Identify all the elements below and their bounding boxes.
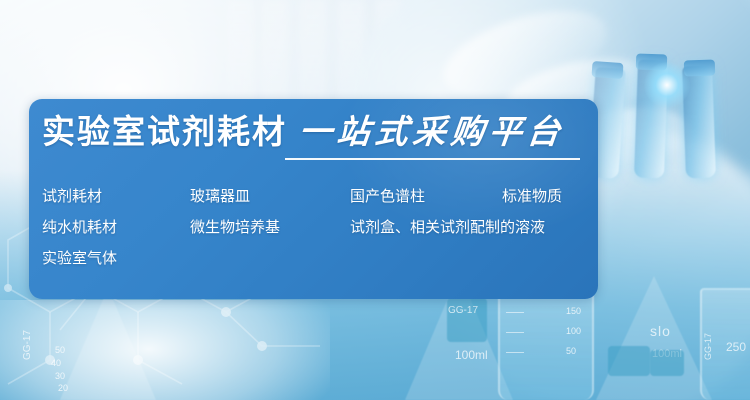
category-row: 实验室气体 — [42, 243, 587, 274]
flask-brand2-right: GG-17 — [703, 333, 713, 360]
category-item-laboratory-gas[interactable]: 实验室气体 — [42, 243, 117, 274]
light-glow — [644, 62, 690, 108]
category-row: 纯水机耗材 微生物培养基 试剂盒、相关试剂配制的溶液 — [42, 212, 587, 243]
laboratory-reagent-banner: 250 APPROX 200 150 100 50 GG-17 100ml GG… — [0, 0, 750, 400]
category-item-water-purifier-consumables[interactable]: 纯水机耗材 — [42, 212, 117, 243]
category-item-kits-and-solutions[interactable]: 试剂盒、相关试剂配制的溶液 — [350, 212, 545, 243]
category-item-reference-material[interactable]: 标准物质 — [502, 181, 562, 212]
title-sub: 一站式采购平台 — [297, 115, 566, 148]
tick-label-150: 150 — [566, 306, 581, 316]
category-list: 试剂耗材 玻璃器皿 国产色谱柱 标准物质 纯水机耗材 微生物培养基 试剂盒、相关… — [42, 181, 587, 274]
category-item-microbial-culture-media[interactable]: 微生物培养基 — [190, 212, 280, 243]
tick-label-50: 50 — [566, 346, 576, 356]
title-main: 实验室试剂耗材 — [42, 115, 287, 148]
title-underline — [285, 158, 580, 160]
flask-label-far-right: 250 — [726, 340, 746, 354]
flask-liquid — [608, 346, 650, 376]
flask-liquid-right — [650, 350, 684, 376]
category-item-glassware[interactable]: 玻璃器皿 — [190, 181, 250, 212]
promo-panel: 实验室试剂耗材 一站式采购平台 试剂耗材 玻璃器皿 国产色谱柱 标准物质 纯水机… — [29, 99, 598, 299]
panel-title: 实验室试剂耗材 一站式采购平台 — [42, 115, 565, 148]
category-item-domestic-chromatography-column[interactable]: 国产色谱柱 — [350, 181, 425, 212]
category-row: 试剂耗材 玻璃器皿 国产色谱柱 标准物质 — [42, 181, 587, 212]
sample-vial-cap — [684, 59, 716, 76]
flask-volume-mid: 100ml — [455, 348, 488, 362]
flask-brand-mid: GG-17 — [448, 305, 478, 316]
flask-brand-right: slo — [650, 323, 671, 339]
tick-label-100: 100 — [566, 326, 581, 336]
category-item-reagent-consumables[interactable]: 试剂耗材 — [42, 181, 102, 212]
background-highlight — [0, 300, 330, 400]
